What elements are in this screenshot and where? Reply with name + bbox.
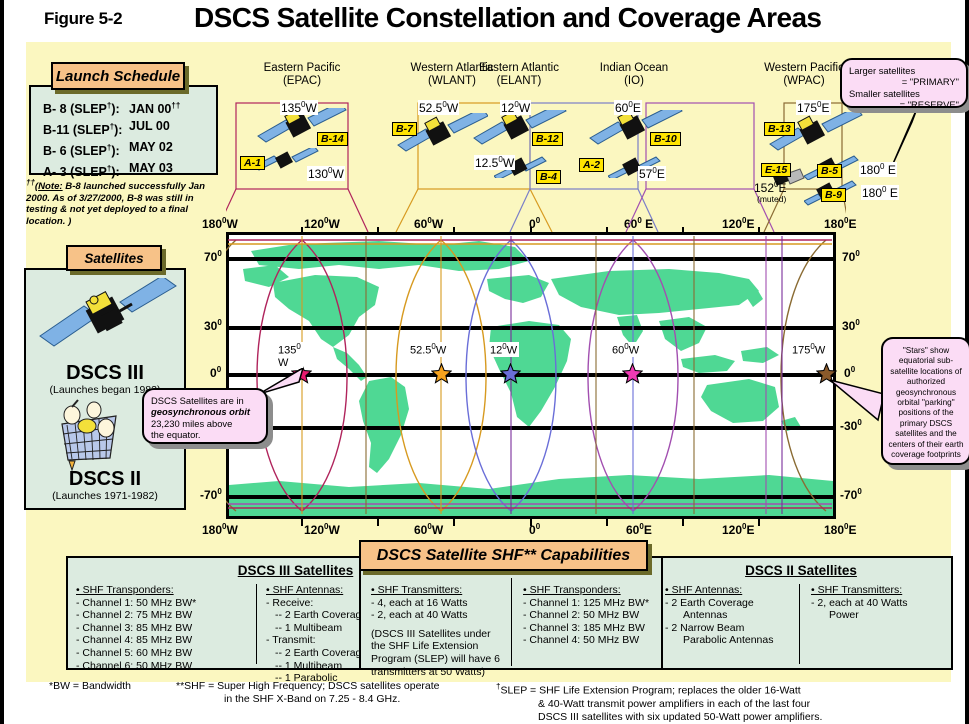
launch-date: JUL 00 bbox=[129, 119, 170, 133]
dscs-ii-sub: (Launches 1971-1982) bbox=[26, 490, 184, 502]
col-line: Parabolic Antennas bbox=[665, 634, 795, 647]
col-line: - Channel 2: 50 MHz BW bbox=[523, 609, 659, 622]
dscs2-transmitters-col: • SHF Transmitters: - 2, each at 40 Watt… bbox=[811, 584, 945, 622]
lat-label-left: -700 bbox=[200, 487, 222, 502]
io-primary-id: B-10 bbox=[650, 132, 681, 146]
star-label-12w: 120W bbox=[488, 342, 519, 357]
lat-label-right: -700 bbox=[840, 487, 862, 502]
wlant-primary-id: B-7 bbox=[392, 122, 417, 136]
page-title: DSCS Satellite Constellation and Coverag… bbox=[194, 2, 821, 34]
col-line: - Channel 3: 85 MHz BW bbox=[76, 622, 246, 635]
stars-callout: "Stars" show equatorial sub-satellite lo… bbox=[881, 337, 969, 465]
group-title-io: Indian Ocean (IO) bbox=[596, 62, 672, 87]
footnote-slep-line1: SLEP = SHF Life Extension Program; repla… bbox=[500, 685, 800, 697]
dscs3-transmitters-panel: • SHF Transmitters: - 4, each at 16 Watt… bbox=[359, 556, 663, 670]
col-line: Power bbox=[811, 609, 945, 622]
col-divider bbox=[799, 584, 800, 664]
star-label-60w: 600W bbox=[610, 342, 641, 357]
col-line: - Channel 6: 50 MHz BW bbox=[76, 660, 246, 673]
epac-primary-id: B-14 bbox=[317, 132, 348, 146]
launch-name-end: ): bbox=[114, 123, 122, 137]
wpac-muted-longitude: 1520E bbox=[753, 180, 788, 195]
launch-row: B- 6 (SLEP†): MAY 02 bbox=[43, 139, 199, 160]
col-bullet: • SHF Transmitters: bbox=[811, 584, 945, 597]
pr-callout-line4: = "RESERVE" bbox=[849, 99, 959, 110]
col-line: - 2, each at 40 Watts bbox=[371, 609, 503, 622]
footnote-slep-line3: DSCS III satellites with six updated 50-… bbox=[496, 711, 822, 724]
group-title-elant: Eastern Atlantic (ELANT) bbox=[478, 62, 560, 87]
dscs2-antennas-col: • SHF Antennas: - 2 Earth Coverage Anten… bbox=[665, 584, 795, 647]
elant-primary-id: B-12 bbox=[532, 132, 563, 146]
lat-label-left: 700 bbox=[204, 249, 222, 264]
launch-schedule-rows: B- 8 (SLEP†): JAN 00†† B-11 (SLEP†): JUL… bbox=[43, 97, 199, 182]
launch-schedule-panel: B- 8 (SLEP†): JAN 00†† B-11 (SLEP†): JUL… bbox=[29, 85, 218, 175]
col-bullet: • SHF Transmitters: bbox=[371, 584, 503, 597]
figure-page: Figure 5-2 DSCS Satellite Constellation … bbox=[0, 0, 969, 724]
launch-name-end: ): bbox=[111, 102, 119, 116]
group-name: Indian Ocean bbox=[600, 62, 668, 74]
title-bar: Figure 5-2 DSCS Satellite Constellation … bbox=[4, 0, 969, 44]
lat-label-left: 300 bbox=[204, 318, 222, 333]
footnote-slep-line2: & 40-Watt transmit power amplifiers in e… bbox=[496, 698, 822, 711]
epac-primary-longitude: 1350W bbox=[280, 100, 318, 115]
wpac-primary-id: B-13 bbox=[764, 122, 795, 136]
group-name: Eastern Atlantic bbox=[479, 62, 559, 74]
epac-reserve-longitude: 1300W bbox=[307, 166, 345, 181]
star-marker-12w bbox=[500, 363, 521, 384]
col-line: - Channel 1: 125 MHz BW* bbox=[523, 597, 659, 610]
launch-schedule-heading: Launch Schedule bbox=[51, 62, 185, 90]
col-line: - 2 Earth Coverage bbox=[665, 597, 795, 610]
col-line: - Channel 4: 50 MHz BW bbox=[523, 634, 659, 647]
footnote-slep: †SLEP = SHF Life Extension Program; repl… bbox=[496, 680, 822, 724]
wpac-reserve-longitude: 1800 E bbox=[859, 162, 897, 177]
orbit-callout-line3: 23,230 miles above bbox=[151, 418, 259, 429]
group-abbrev: (WLANT) bbox=[428, 75, 476, 87]
figure-number: Figure 5-2 bbox=[44, 9, 122, 29]
col-bullet: • SHF Transponders: bbox=[76, 584, 246, 597]
star-label-175w: 1750W bbox=[790, 342, 827, 357]
dscs-iii-satellite-icon bbox=[32, 278, 182, 358]
pr-callout-line3: Smaller satellites bbox=[849, 88, 959, 99]
lat-label-left: 00 bbox=[210, 365, 221, 380]
launch-row: B- 8 (SLEP†): JAN 00†† bbox=[43, 97, 199, 118]
elant-primary-longitude: 120W bbox=[500, 100, 531, 115]
note-label: Note: bbox=[38, 181, 63, 192]
launch-date: MAY 03 bbox=[129, 161, 173, 175]
col-line: - Channel 3: 185 MHz BW bbox=[523, 622, 659, 635]
dscs3-transponders-col: • SHF Transponders: - Channel 1: 50 MHz … bbox=[76, 584, 246, 672]
lat-label-right: 700 bbox=[842, 249, 860, 264]
primary-reserve-callout: Larger satellites = "PRIMARY" Smaller sa… bbox=[840, 58, 968, 108]
note-marker: †† bbox=[26, 178, 35, 187]
io-primary-longitude: 600E bbox=[614, 100, 642, 115]
wpac-reserve2-longitude: 1800 E bbox=[861, 185, 899, 200]
lat-label-right: 300 bbox=[842, 318, 860, 333]
col-line: - 2 Narrow Beam bbox=[665, 622, 795, 635]
group-abbrev: (ELANT) bbox=[497, 75, 542, 87]
wpac-muted-id: E-15 bbox=[761, 163, 791, 177]
launch-name-end: ): bbox=[111, 144, 119, 158]
col-bullet: • SHF Transponders: bbox=[523, 584, 659, 597]
group-abbrev: (WPAC) bbox=[783, 75, 824, 87]
footnote-shf-line2: in the SHF X-Band on 7.25 - 8.4 GHz. bbox=[176, 693, 440, 706]
satellites-heading: Satellites bbox=[66, 245, 162, 271]
col-line: Antennas bbox=[665, 609, 795, 622]
pr-callout-line1: Larger satellites bbox=[849, 65, 959, 76]
launch-schedule-note: ††(Note: B-8 launched successfully Jan 2… bbox=[26, 177, 221, 228]
star-label-52-5w: 52.50W bbox=[408, 342, 448, 357]
slep-paragraph: (DSCS III Satellites under the SHF Life … bbox=[371, 628, 503, 678]
group-abbrev: (EPAC) bbox=[283, 75, 321, 87]
elant-reserve-longitude: 12.50W bbox=[474, 155, 515, 170]
footnote-bw: *BW = Bandwidth bbox=[49, 680, 131, 693]
io-reserve-longitude: 570E bbox=[638, 166, 666, 181]
orbit-callout-line1: DSCS Satellites are in bbox=[151, 395, 259, 406]
star-marker-52-5w bbox=[431, 363, 452, 384]
launch-date: JAN 00 bbox=[129, 102, 171, 116]
elant-reserve-id: B-4 bbox=[536, 170, 561, 184]
col-bullet: • SHF Antennas: bbox=[665, 584, 795, 597]
group-abbrev: (IO) bbox=[624, 75, 644, 87]
epac-reserve-id: A-1 bbox=[240, 156, 265, 170]
lon-ticks-top bbox=[226, 225, 838, 235]
wlant-primary-longitude: 52.50W bbox=[418, 100, 459, 115]
orbit-callout-line4: the equator. bbox=[151, 429, 259, 440]
wpac-muted-note: (muted) bbox=[757, 194, 786, 204]
group-name: Eastern Pacific bbox=[264, 62, 341, 74]
col-line: - Channel 5: 60 MHz BW bbox=[76, 647, 246, 660]
wpac-reserve-id: B-5 bbox=[817, 164, 842, 178]
orbit-callout: DSCS Satellites are in geosynchronous or… bbox=[142, 388, 268, 444]
launch-date: MAY 02 bbox=[129, 140, 173, 154]
dscs2-capabilities-panel: DSCS II Satellites • SHF Antennas: - 2 E… bbox=[649, 556, 953, 670]
col-divider bbox=[511, 578, 512, 666]
launch-row: B-11 (SLEP†): JUL 00 bbox=[43, 118, 199, 139]
star-marker-60w bbox=[622, 363, 643, 384]
col-line: - Channel 2: 75 MHz BW bbox=[76, 609, 246, 622]
footnote-shf-line1: **SHF = Super High Frequency; DSCS satel… bbox=[176, 680, 440, 693]
launch-name: B-11 (SLEP bbox=[43, 123, 110, 137]
pr-callout-line2: = "PRIMARY" bbox=[849, 76, 959, 87]
dscs3-transmitters-col: • SHF Transmitters: - 4, each at 16 Watt… bbox=[371, 584, 503, 678]
group-name: Western Pacific bbox=[764, 62, 844, 74]
orbit-callout-line2: geosynchronous orbit bbox=[151, 406, 259, 417]
lon-ticks-bottom bbox=[226, 519, 838, 529]
launch-name: B- 8 (SLEP bbox=[43, 102, 107, 116]
col-divider bbox=[256, 584, 257, 664]
dscs2-heading: DSCS II Satellites bbox=[651, 563, 951, 578]
star-label-135w: 1350W bbox=[276, 342, 303, 369]
col-line: - 2, each at 40 Watts bbox=[811, 597, 945, 610]
wpac-primary-longitude: 1750E bbox=[796, 100, 831, 115]
wpac-reserve2-id: B-9 bbox=[821, 188, 846, 202]
orbit-callout-pointer bbox=[259, 368, 319, 428]
col-line: - Channel 1: 50 MHz BW* bbox=[76, 597, 246, 610]
dscs-iii-name: DSCS III bbox=[26, 362, 184, 385]
col-line: - 4, each at 16 Watts bbox=[371, 597, 503, 610]
io-reserve-id: A-2 bbox=[579, 158, 604, 172]
group-title-wpac: Western Pacific (WPAC) bbox=[764, 62, 844, 87]
dscs-ii-name: DSCS II bbox=[26, 468, 184, 491]
col-line: - Channel 4: 85 MHz BW bbox=[76, 634, 246, 647]
footnote-shf: **SHF = Super High Frequency; DSCS satel… bbox=[176, 680, 440, 706]
primary-reserve-pointer bbox=[856, 104, 936, 170]
launch-date-marker: †† bbox=[171, 101, 180, 110]
launch-name: B- 6 (SLEP bbox=[43, 144, 107, 158]
capabilities-heading: DSCS Satellite SHF** Capabilities bbox=[359, 540, 648, 571]
group-title-epac: Eastern Pacific (EPAC) bbox=[262, 62, 342, 87]
dscs2-transponders-col: • SHF Transponders: - Channel 1: 125 MHz… bbox=[523, 584, 659, 647]
